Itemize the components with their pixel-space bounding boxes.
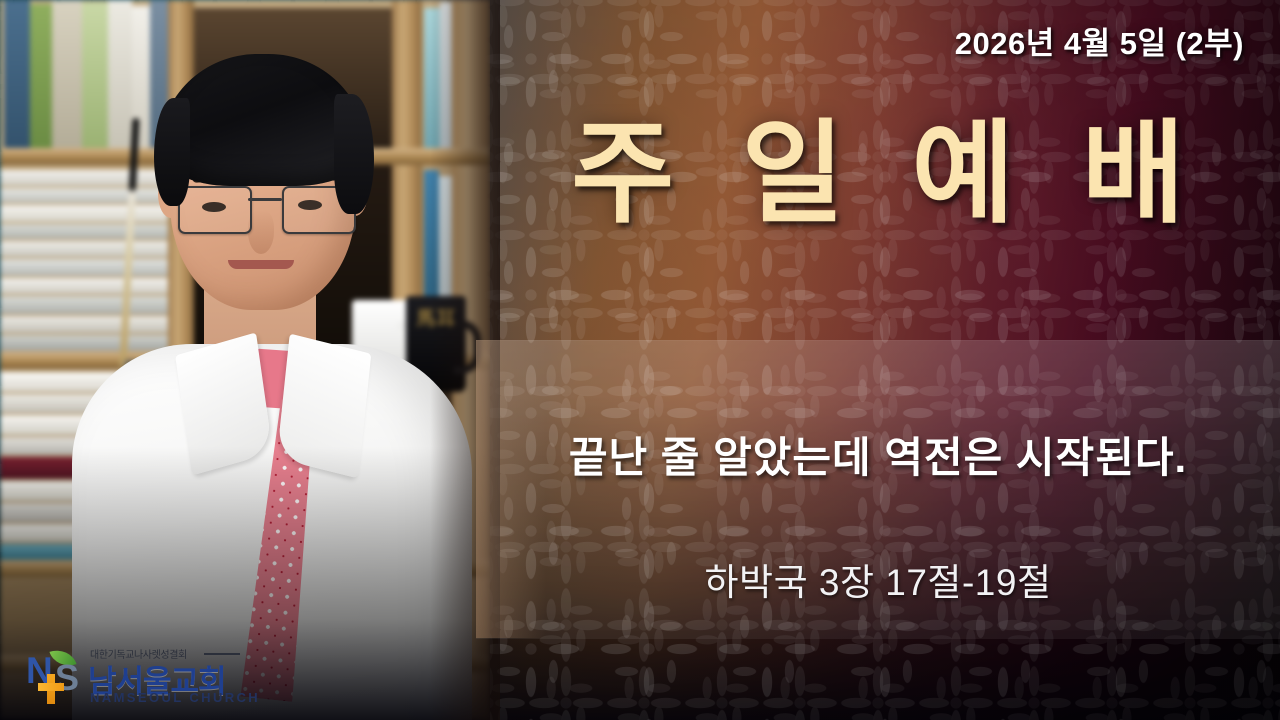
photo-bottom-shade (0, 0, 490, 720)
church-name-english: NAMSEOUL CHURCH (90, 690, 260, 705)
logo-mark-icon: N S (26, 648, 84, 704)
service-title: 주 일 예 배 (476, 118, 1280, 230)
sermon-title: 끝난 줄 알았는데 역전은 시작된다. (476, 424, 1280, 485)
scripture-reference: 하박국 3장 17절-19절 (476, 552, 1280, 606)
service-date: 2026년 4월 5일 (2부) (955, 18, 1244, 63)
sermon-slide: 馬耳 (0, 0, 1280, 720)
denomination-rule (204, 653, 240, 655)
cross-icon-bar (38, 683, 64, 691)
church-logo: N S 대한기독교나사렛성결회 남서울교회 NAMSEOUL CHURCH (26, 644, 242, 710)
pastor-photo: 馬耳 (0, 0, 490, 720)
